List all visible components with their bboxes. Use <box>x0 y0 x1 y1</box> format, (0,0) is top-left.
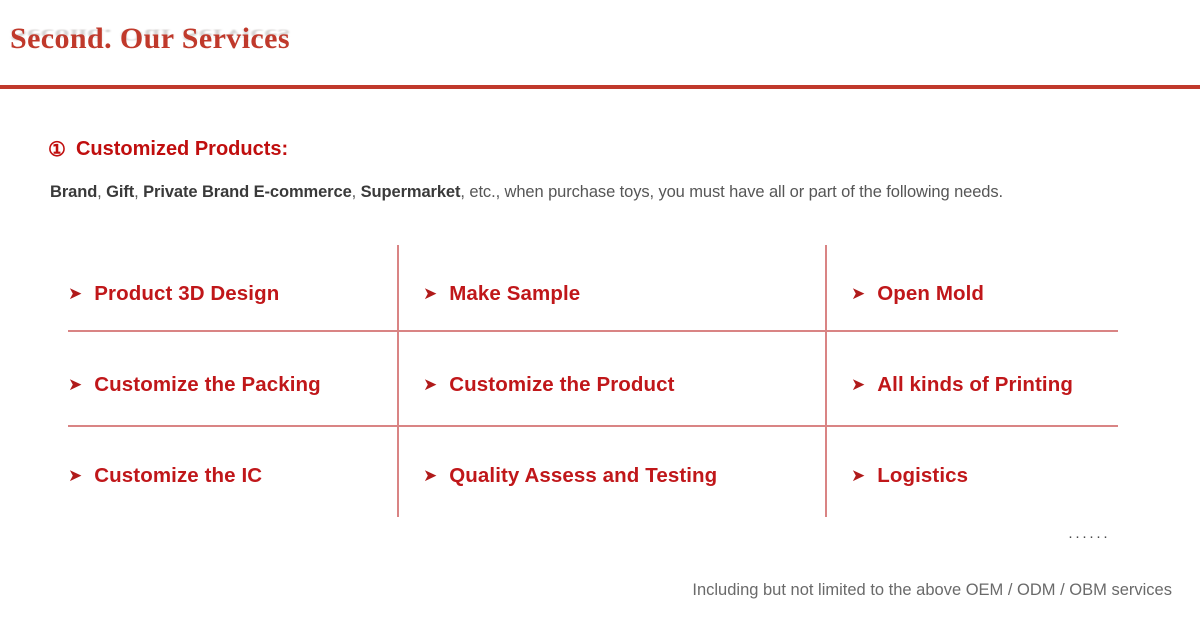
intro-tail-text: , etc., when purchase toys, you must hav… <box>460 183 1003 201</box>
arrow-bullet-icon: ➤ <box>851 285 865 302</box>
intro-keyword-private-brand-ecommerce: Private Brand E-commerce <box>143 183 352 201</box>
service-item[interactable]: ➤ All kinds of Printing <box>851 373 1073 397</box>
service-item[interactable]: ➤ Quality Assess and Testing <box>423 464 717 488</box>
intro-sep-3: , <box>352 183 361 201</box>
arrow-bullet-icon: ➤ <box>851 376 865 393</box>
header-divider <box>0 85 1200 89</box>
service-item-label: Customize the IC <box>94 464 262 488</box>
service-item-label: Customize the Product <box>449 373 674 397</box>
slide-header: Second. Our Services Second. Our Service… <box>0 0 1200 90</box>
service-grid: ➤ Product 3D Design ➤ Make Sample ➤ Open… <box>60 245 1120 517</box>
arrow-bullet-icon: ➤ <box>423 467 437 484</box>
grid-vertical-divider-2 <box>825 245 827 517</box>
arrow-bullet-icon: ➤ <box>423 376 437 393</box>
service-item[interactable]: ➤ Logistics <box>851 464 968 488</box>
arrow-bullet-icon: ➤ <box>851 467 865 484</box>
intro-sep-2: , <box>134 183 143 201</box>
intro-keyword-gift: Gift <box>106 183 134 201</box>
service-item-label: All kinds of Printing <box>877 373 1073 397</box>
intro-keyword-brand: Brand <box>50 183 97 201</box>
service-item[interactable]: ➤ Customize the Packing <box>68 373 321 397</box>
service-item-label: Product 3D Design <box>94 282 279 306</box>
grid-vertical-divider-1 <box>397 245 399 517</box>
arrow-bullet-icon: ➤ <box>68 376 82 393</box>
ellipsis-dots: ······ <box>1068 528 1110 545</box>
service-item-label: Logistics <box>877 464 968 488</box>
circled-number-icon: ① <box>48 140 66 160</box>
service-item-label: Quality Assess and Testing <box>449 464 717 488</box>
service-item-label: Make Sample <box>449 282 580 306</box>
arrow-bullet-icon: ➤ <box>68 285 82 302</box>
section-heading-label: Customized Products: <box>76 138 288 161</box>
intro-sep-1: , <box>97 183 106 201</box>
footer-note: Including but not limited to the above O… <box>692 581 1172 600</box>
intro-keyword-supermarket: Supermarket <box>361 183 461 201</box>
service-item[interactable]: ➤ Customize the Product <box>423 373 675 397</box>
service-item[interactable]: ➤ Open Mold <box>851 282 984 306</box>
service-item[interactable]: ➤ Make Sample <box>423 282 580 306</box>
grid-horizontal-divider-2 <box>68 425 1118 427</box>
arrow-bullet-icon: ➤ <box>68 467 82 484</box>
service-item[interactable]: ➤ Customize the IC <box>68 464 262 488</box>
service-item-label: Customize the Packing <box>94 373 321 397</box>
service-item[interactable]: ➤ Product 3D Design <box>68 282 279 306</box>
grid-horizontal-divider-1 <box>68 330 1118 332</box>
arrow-bullet-icon: ➤ <box>423 285 437 302</box>
page-title: Second. Our Services <box>10 22 290 56</box>
section-heading: ① Customized Products: <box>48 138 288 161</box>
intro-paragraph: Brand, Gift, Private Brand E-commerce, S… <box>50 183 1003 202</box>
service-item-label: Open Mold <box>877 282 984 306</box>
